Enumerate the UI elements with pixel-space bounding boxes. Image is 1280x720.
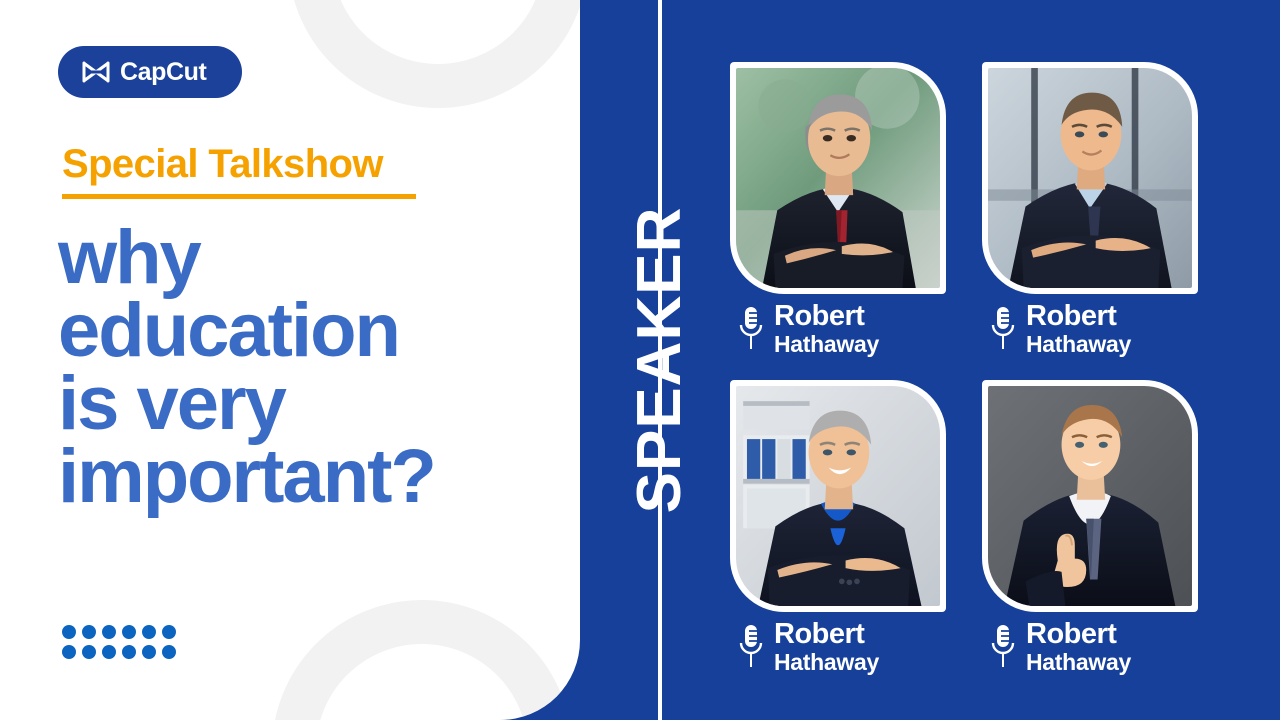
capcut-wordmark: CapCut — [120, 60, 206, 85]
decorative-ring-top — [288, 0, 580, 108]
speaker-card[interactable]: Robert Hathaway — [982, 62, 1210, 362]
speaker-photo — [736, 68, 940, 288]
headline-line: important? — [58, 441, 538, 514]
speaker-card[interactable]: Robert Hathaway — [982, 380, 1210, 680]
speaker-photo — [988, 386, 1192, 606]
capcut-logo-badge[interactable]: CapCut — [58, 46, 242, 98]
eyebrow-block: Special Talkshow — [62, 142, 416, 199]
speaker-card[interactable]: Robert Hathaway — [730, 380, 958, 680]
dot — [142, 645, 156, 659]
speaker-first-name: Robert — [1026, 620, 1131, 649]
speaker-section-label: SPEAKER — [629, 207, 691, 514]
speaker-name-row: Robert Hathaway — [990, 302, 1131, 356]
photo-frame — [730, 62, 946, 294]
speaker-photo — [988, 68, 1192, 288]
photo-frame — [982, 62, 1198, 294]
headline-line: why — [58, 222, 538, 295]
speaker-first-name: Robert — [1026, 302, 1131, 331]
page-title: why education is very important? — [58, 222, 538, 514]
microphone-icon — [738, 305, 764, 353]
photo-frame — [982, 380, 1198, 612]
speaker-photo — [736, 386, 940, 606]
speaker-name: Robert Hathaway — [1026, 302, 1131, 356]
dot — [122, 625, 136, 639]
speaker-card[interactable]: Robert Hathaway — [730, 62, 958, 362]
dot — [162, 645, 176, 659]
dot — [122, 645, 136, 659]
dot — [82, 645, 96, 659]
microphone-icon — [990, 305, 1016, 353]
speaker-first-name: Robert — [774, 620, 879, 649]
speaker-card-grid: Robert Hathaway — [730, 62, 1210, 682]
capcut-hourglass-icon — [82, 61, 110, 83]
speaker-name-row: Robert Hathaway — [990, 620, 1131, 674]
dot — [82, 625, 96, 639]
dot — [102, 625, 116, 639]
microphone-icon — [738, 623, 764, 671]
microphone-icon — [990, 623, 1016, 671]
headline-line: education — [58, 295, 538, 368]
speaker-name: Robert Hathaway — [1026, 620, 1131, 674]
dot — [62, 645, 76, 659]
eyebrow-underline — [62, 194, 416, 199]
speaker-name-row: Robert Hathaway — [738, 620, 879, 674]
speaker-name: Robert Hathaway — [774, 302, 879, 356]
dot — [142, 625, 156, 639]
speaker-poster: CapCut Special Talkshow why education is… — [0, 0, 1280, 720]
speaker-last-name: Hathaway — [1026, 333, 1131, 356]
headline-line: is very — [58, 368, 538, 441]
speaker-last-name: Hathaway — [774, 651, 879, 674]
speaker-name: Robert Hathaway — [774, 620, 879, 674]
photo-frame — [730, 380, 946, 612]
speaker-last-name: Hathaway — [774, 333, 879, 356]
speaker-section-rail: SPEAKER — [600, 0, 720, 720]
dot — [162, 625, 176, 639]
speaker-name-row: Robert Hathaway — [738, 302, 879, 356]
eyebrow-label: Special Talkshow — [62, 142, 416, 186]
speaker-last-name: Hathaway — [1026, 651, 1131, 674]
dot — [102, 645, 116, 659]
decorative-dot-grid — [62, 625, 176, 659]
speaker-first-name: Robert — [774, 302, 879, 331]
dot — [62, 625, 76, 639]
decorative-ring-bottom — [272, 600, 572, 720]
